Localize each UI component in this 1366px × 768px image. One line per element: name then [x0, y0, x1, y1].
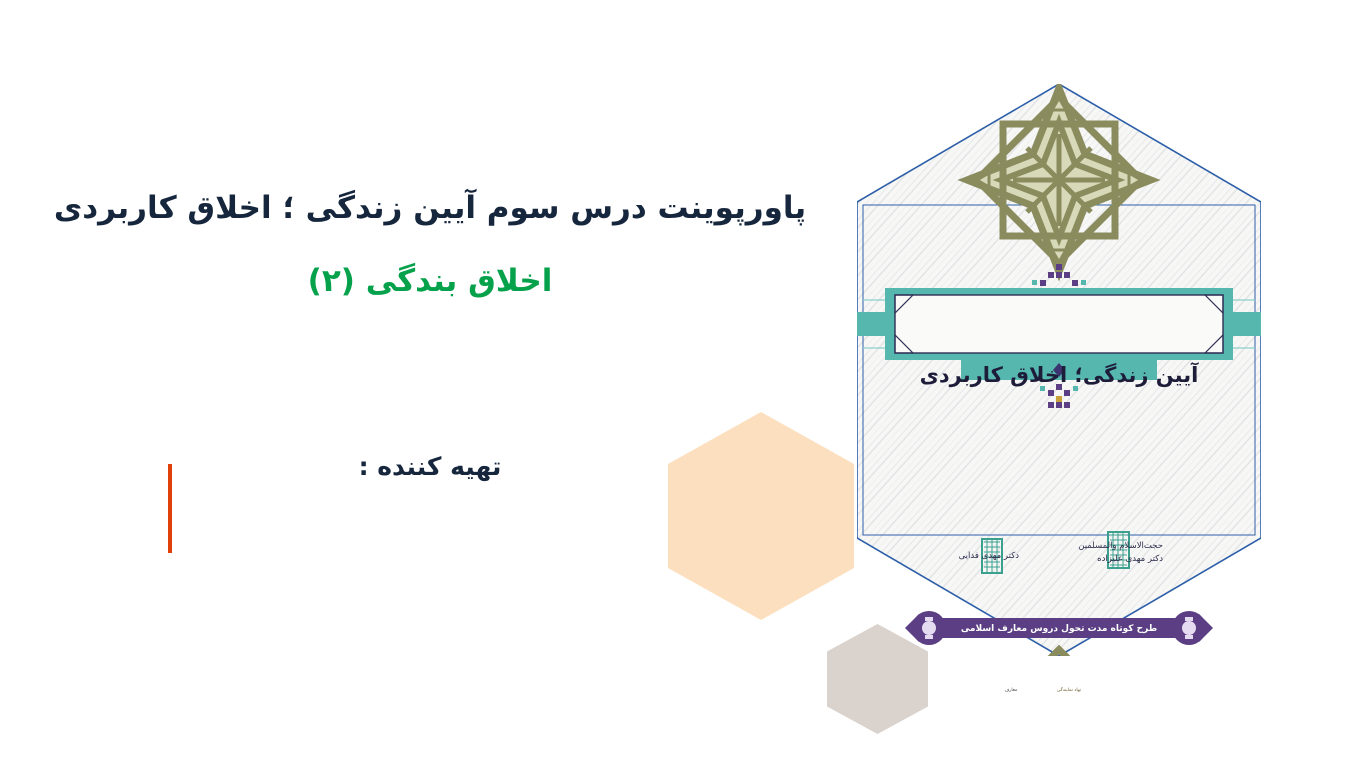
institution-logo-label: نهاد نمایندگی — [1041, 688, 1097, 693]
prepared-by-row: تهیه کننده : — [20, 452, 840, 481]
publisher-logo-label: معارف — [983, 688, 1039, 693]
book-cover-image: آیین زندگی؛ اخلاق کاربردی حجت‌الاسلام وا… — [857, 84, 1261, 656]
decorative-hexagon-large — [668, 412, 854, 620]
author-name: دکتر مهدی علیزاده — [1033, 553, 1163, 566]
page-title: پاورپوینت درس سوم آیین زندگی ؛ اخلاق کار… — [20, 186, 840, 231]
prepared-by-label: تهیه کننده : — [359, 452, 502, 481]
author-honorific: حجت‌الاسلام والمسلمین — [1033, 540, 1163, 553]
accent-bar — [168, 464, 172, 553]
slide-text-column: پاورپوینت درس سوم آیین زندگی ؛ اخلاق کار… — [20, 186, 840, 304]
page-subtitle: اخلاق بندگی (۲) — [20, 259, 840, 304]
book-cover-author-primary: حجت‌الاسلام والمسلمین دکتر مهدی علیزاده — [1033, 540, 1163, 566]
book-cover-banner-text: طرح کوتاه مدت تحول دروس معارف اسلامی — [857, 624, 1261, 634]
author-name: دکتر مهدی فدایی — [901, 550, 1019, 563]
book-cover-title: آیین زندگی؛ اخلاق کاربردی — [857, 363, 1261, 387]
book-cover-author-secondary: دکتر مهدی فدایی — [901, 550, 1019, 563]
presentation-slide: پاورپوینت درس سوم آیین زندگی ؛ اخلاق کار… — [0, 0, 1366, 768]
